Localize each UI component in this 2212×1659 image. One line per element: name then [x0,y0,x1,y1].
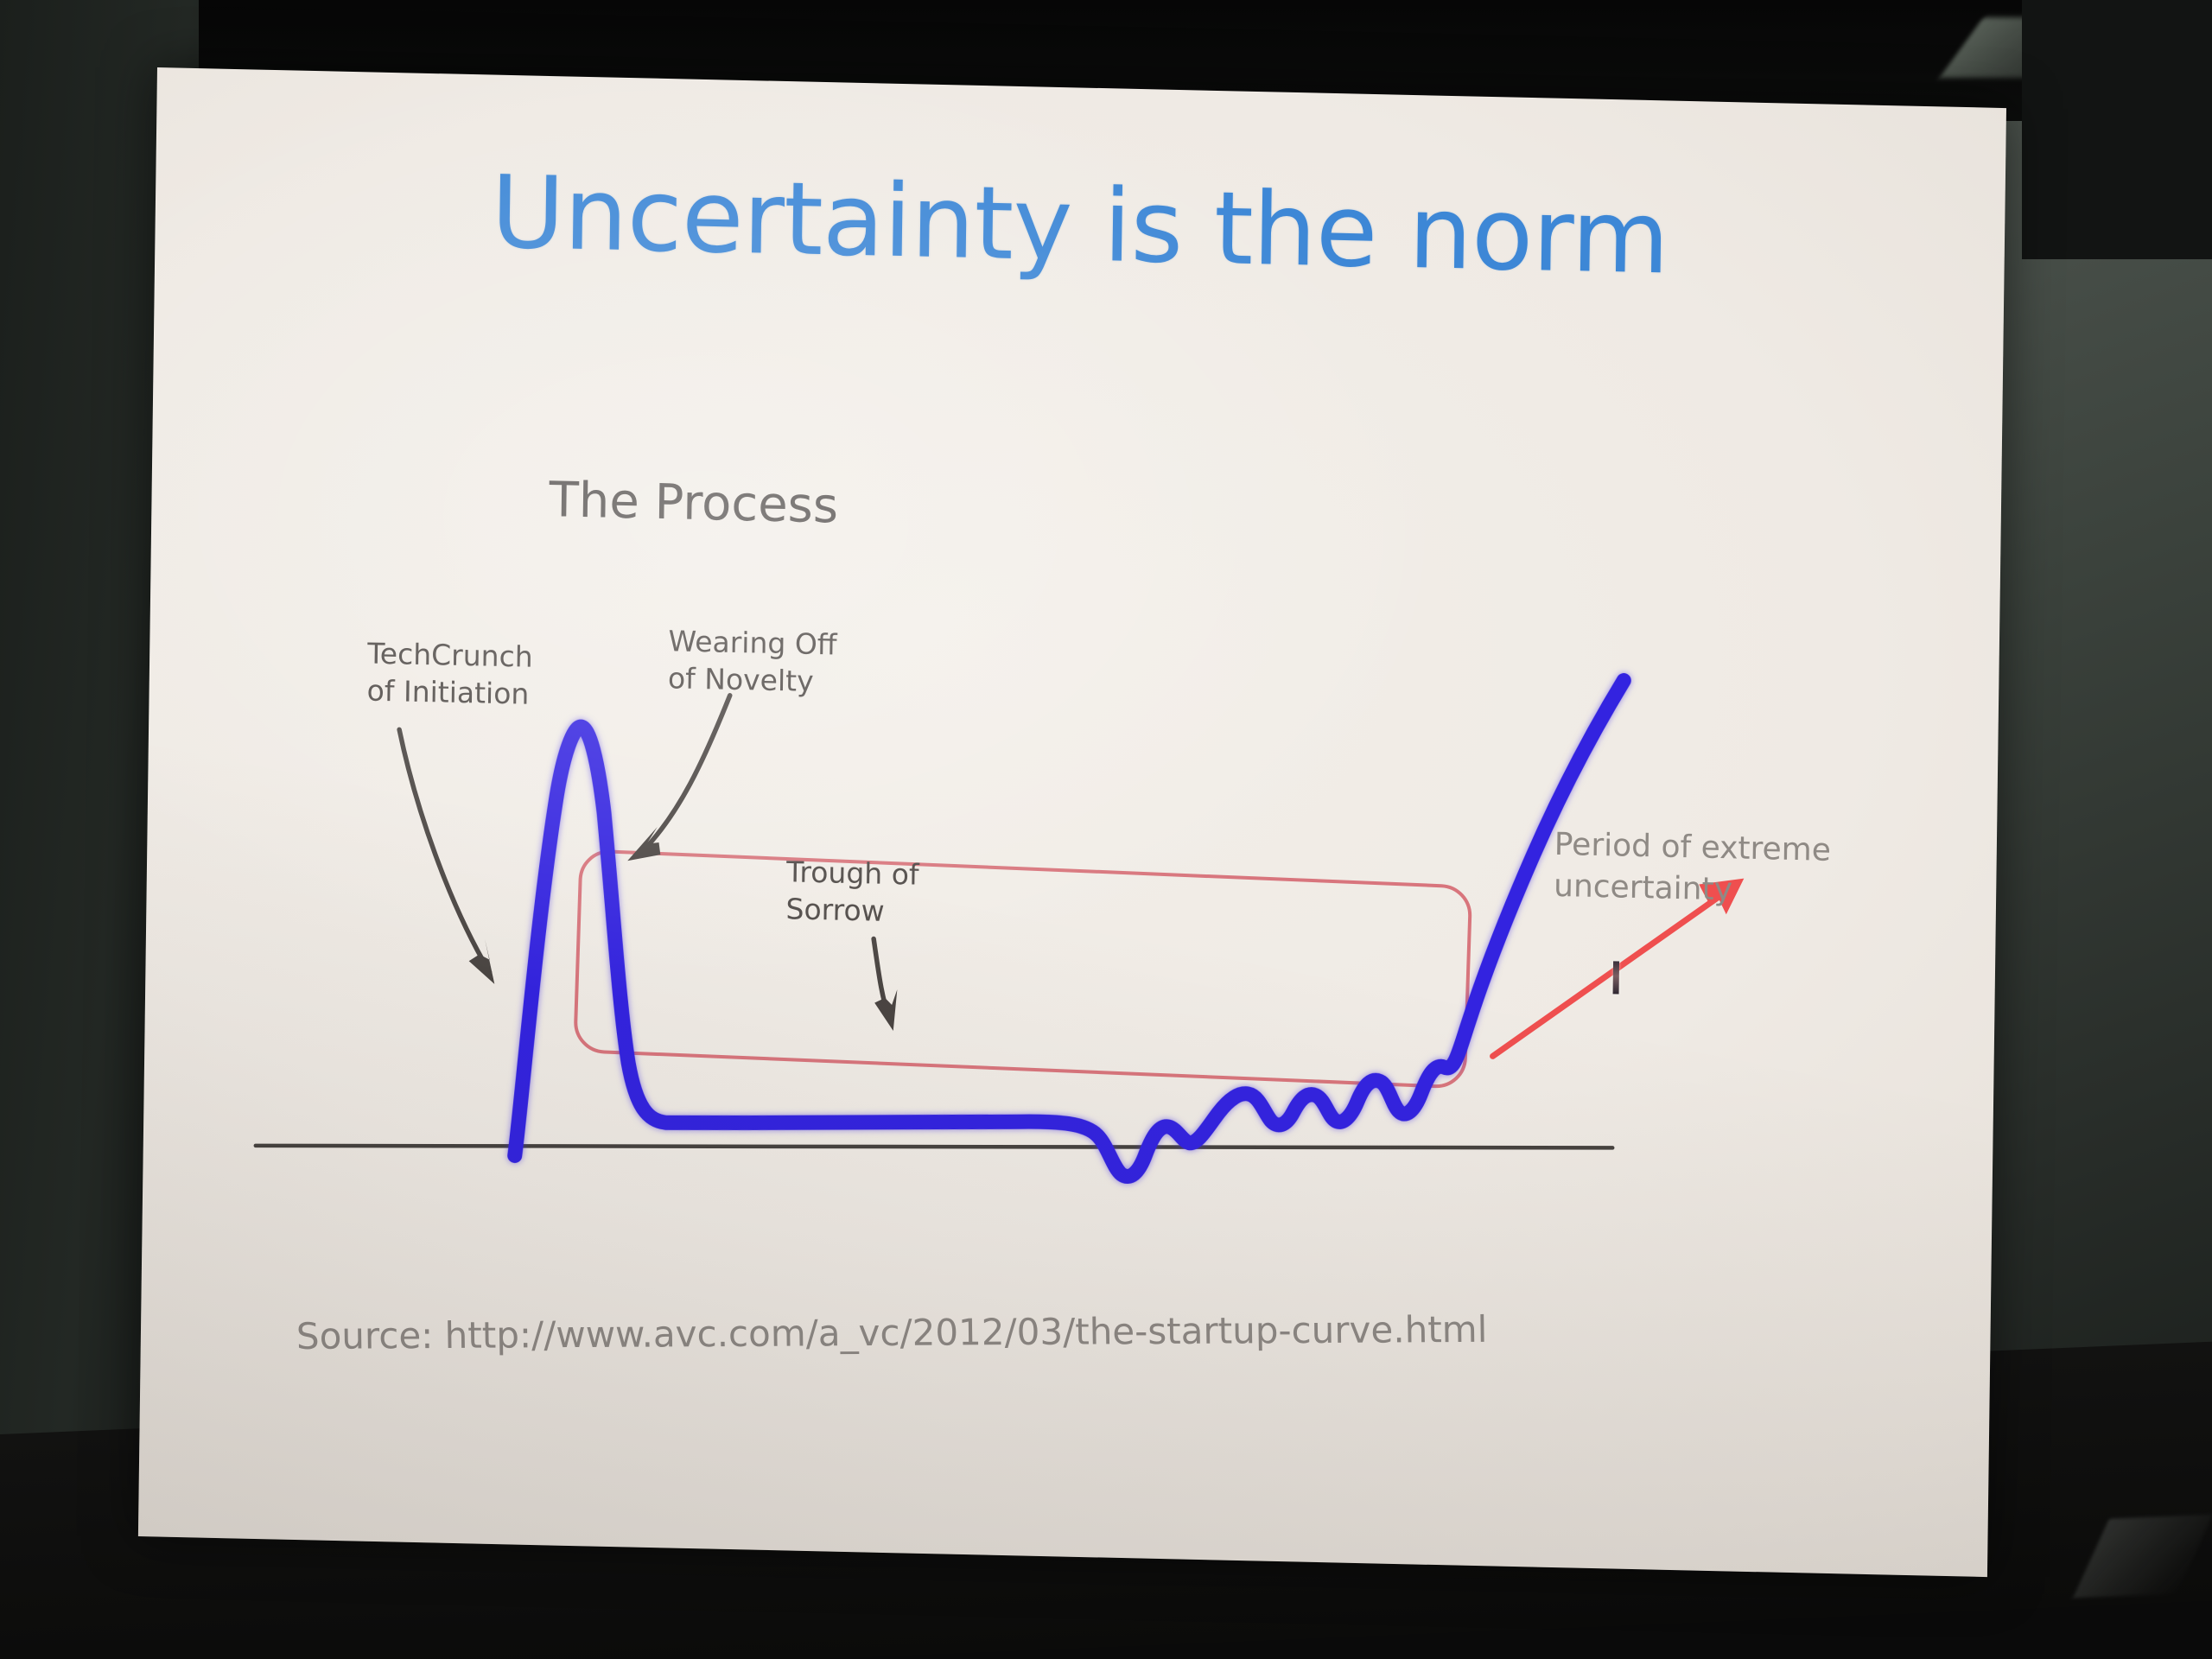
trough-pointer-arrowhead [874,989,898,1032]
startup-curve-line [515,656,1624,1187]
techcrunch-pointer-arrowhead [468,938,495,984]
trough-pointer-arrow [873,939,889,1015]
novelty-pointer-arrowhead [627,826,661,861]
novelty-pointer-arrow [643,694,729,853]
annotation-period-of-extreme-uncertainty: Period of extreme uncertainty [1554,824,1831,912]
techcrunch-pointer-arrow [397,729,493,971]
chart-heading: The Process [549,472,838,534]
uncertainty-callout-arrow [1493,885,1729,1061]
annotation-techcrunch: TechCrunch of Initiation [366,636,533,714]
photographed-room: Uncertainty is the norm The Process [0,0,2212,1659]
source-citation: Source: http://www.avc.com/a_vc/2012/03/… [296,1308,1488,1357]
floor-light-glint [2073,1515,2212,1599]
page-title: Uncertainty is the norm [155,147,2005,304]
annotation-wearing-off-novelty: Wearing Off of Novelty [668,623,837,701]
room-wall-right-upper [2022,0,2212,259]
text-ibeam-cursor[interactable] [1613,961,1619,994]
annotation-trough-of-sorrow: Trough of Sorrow [785,854,919,931]
baseline-axis [256,1118,1612,1176]
presentation-slide: Uncertainty is the norm The Process [138,67,2006,1577]
highlight-region-box [575,850,1471,1087]
projection-screen: Uncertainty is the norm The Process [138,67,2006,1577]
